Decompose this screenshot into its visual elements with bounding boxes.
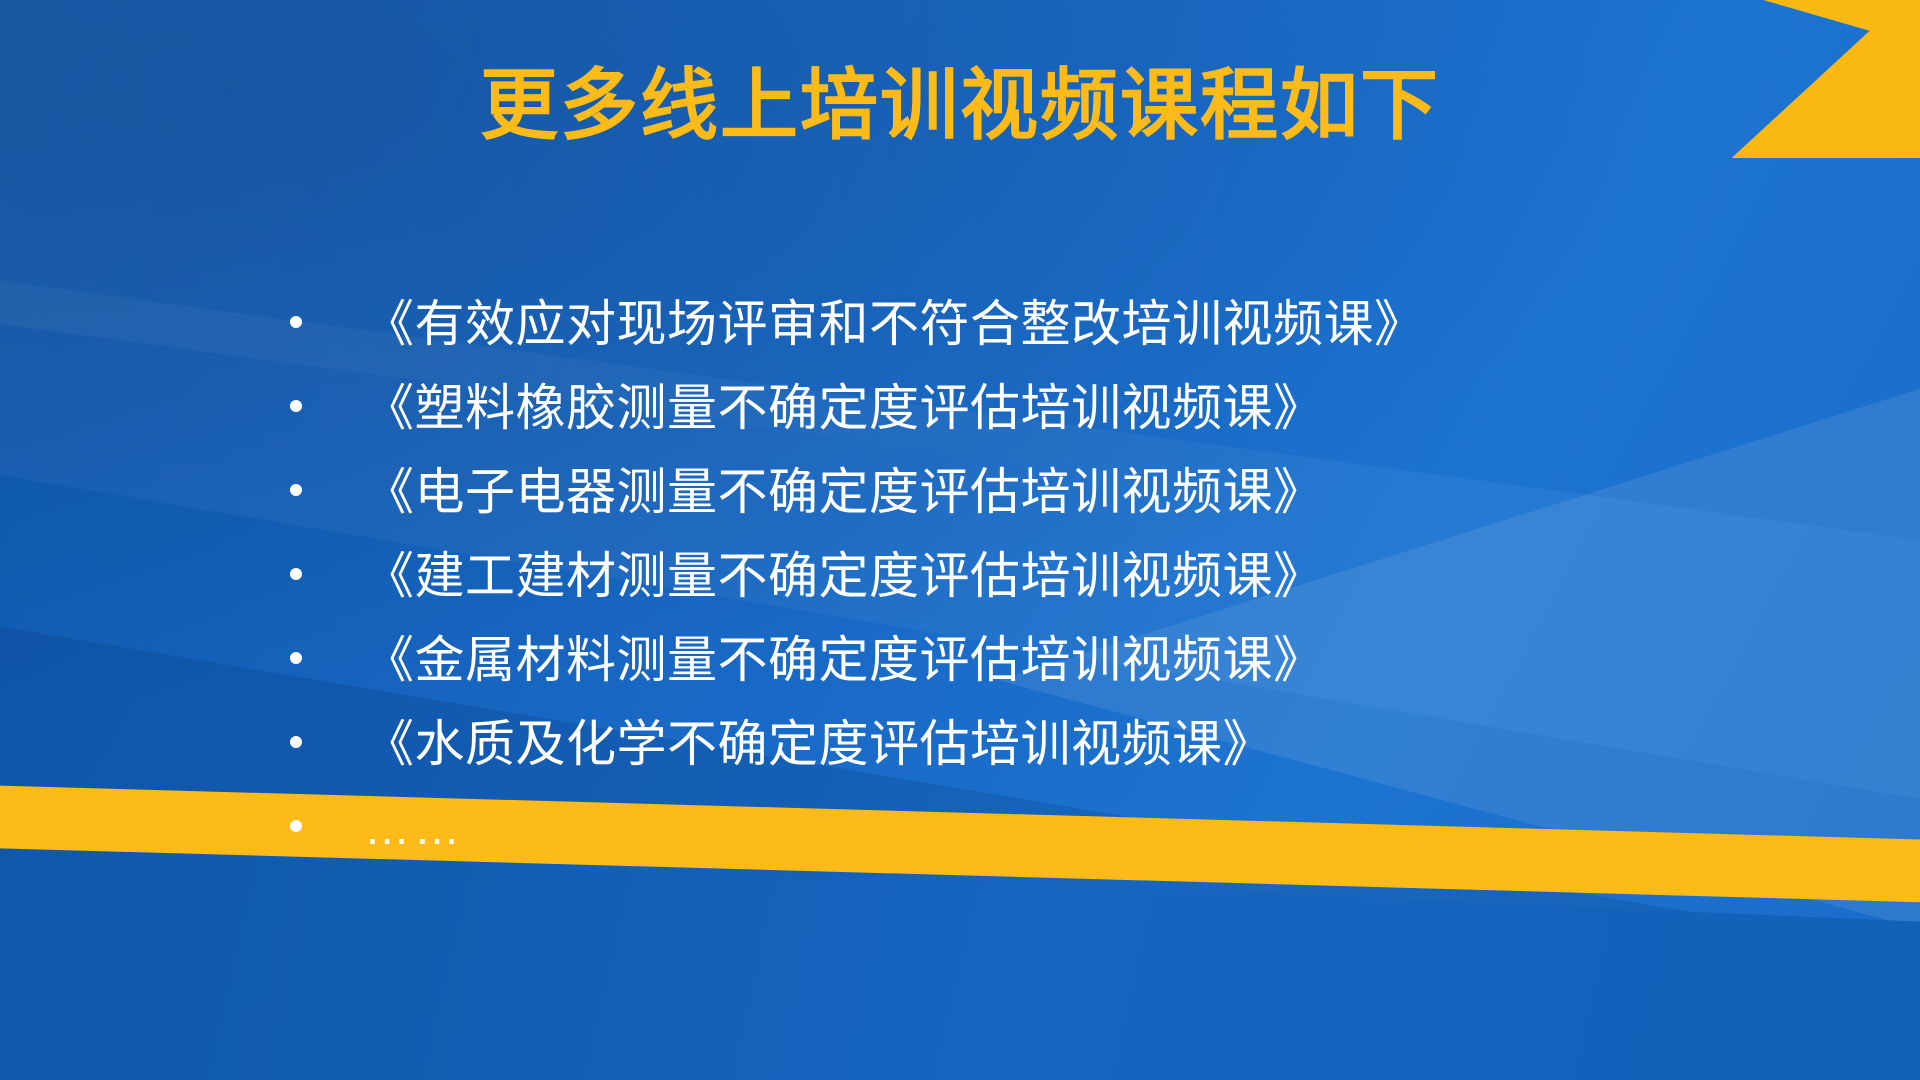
list-item: 《金属材料测量不确定度评估培训视频课》 (290, 621, 1800, 705)
bullet-dot-icon (290, 568, 302, 580)
list-item-label: 《水质及化学不确定度评估培训视频课》 (364, 705, 1273, 783)
list-item-label: 《有效应对现场评审和不符合整改培训视频课》 (364, 285, 1425, 363)
bullet-dot-icon (290, 316, 302, 328)
bullet-dot-icon (290, 400, 302, 412)
slide-canvas: 更多线上培训视频课程如下 《有效应对现场评审和不符合整改培训视频课》 《塑料橡胶… (0, 0, 1920, 1080)
slide-content: 更多线上培训视频课程如下 《有效应对现场评审和不符合整改培训视频课》 《塑料橡胶… (0, 0, 1920, 1080)
bullet-dot-icon (290, 652, 302, 664)
course-list: 《有效应对现场评审和不符合整改培训视频课》 《塑料橡胶测量不确定度评估培训视频课… (290, 285, 1800, 873)
page-title: 更多线上培训视频课程如下 (0, 62, 1920, 149)
list-item-label: 《电子电器测量不确定度评估培训视频课》 (364, 453, 1324, 531)
list-item: 《水质及化学不确定度评估培训视频课》 (290, 705, 1800, 789)
bullet-dot-icon (290, 736, 302, 748)
list-item-label: 《塑料橡胶测量不确定度评估培训视频课》 (364, 369, 1324, 447)
list-item-label: 《建工建材测量不确定度评估培训视频课》 (364, 537, 1324, 615)
list-item-label: 《金属材料测量不确定度评估培训视频课》 (364, 621, 1324, 699)
list-item: 《塑料橡胶测量不确定度评估培训视频课》 (290, 369, 1800, 453)
list-item-label: …… (364, 789, 464, 867)
list-item: 《电子电器测量不确定度评估培训视频课》 (290, 453, 1800, 537)
list-item: 《建工建材测量不确定度评估培训视频课》 (290, 537, 1800, 621)
bullet-dot-icon (290, 820, 302, 832)
list-item: 《有效应对现场评审和不符合整改培训视频课》 (290, 285, 1800, 369)
list-item: …… (290, 789, 1800, 873)
bullet-dot-icon (290, 484, 302, 496)
